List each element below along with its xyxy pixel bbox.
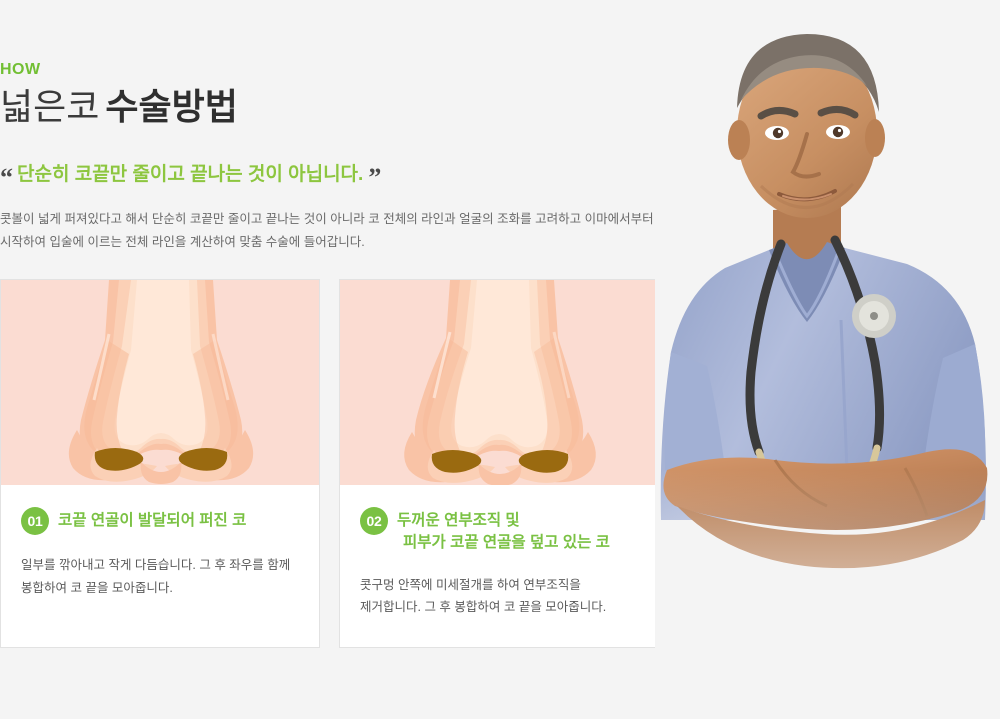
doctor-illustration-svg [655, 0, 1000, 680]
card-number-badge: 02 [360, 507, 388, 535]
header: HOW 넓은코수술방법 [0, 62, 660, 127]
page-title: 넓은코수술방법 [0, 86, 660, 127]
card-number-badge: 01 [21, 507, 49, 535]
card-desc-line-2: 제거합니다. 그 후 봉합하여 코 끝을 모아줍니다. [360, 596, 638, 619]
card-desc-line-1: 일부를 깎아내고 작게 다듬습니다. 그 후 좌우를 함께 [21, 554, 299, 577]
quote-text: 단순히 코끝만 줄이고 끝나는 것이 아닙니다. [17, 163, 363, 187]
quote-open-icon: “ [0, 165, 13, 191]
lead-paragraph: 콧볼이 넓게 퍼져있다고 해서 단순히 코끝만 줄이고 끝나는 것이 아니라 코… [0, 208, 640, 254]
card-item: 02 두꺼운 연부조직 및 피부가 코끝 연골을 덮고 있는 코 콧구멍 안쪽에… [339, 279, 659, 648]
card-body: 02 두꺼운 연부조직 및 피부가 코끝 연골을 덮고 있는 코 콧구멍 안쪽에… [340, 485, 658, 619]
card-heading: 02 두꺼운 연부조직 및 피부가 코끝 연골을 덮고 있는 코 [360, 507, 638, 555]
nose-illustration-1 [1, 280, 319, 485]
wide-nose-svg [1, 280, 319, 485]
card-title: 코끝 연골이 발달되어 퍼진 코 [58, 507, 246, 532]
lead-line-1: 콧볼이 넓게 퍼져있다고 해서 단순히 코끝만 줄이고 끝나는 것이 아니라 코… [0, 208, 640, 231]
lead-line-2: 시작하여 입술에 이르는 전체 라인을 계산하여 맞춤 수술에 들어갑니다. [0, 231, 640, 254]
nose-illustration-2 [340, 280, 658, 485]
card-item: 01 코끝 연골이 발달되어 퍼진 코 일부를 깎아내고 작게 다듬습니다. 그… [0, 279, 320, 648]
card-desc-line-2: 봉합하여 코 끝을 모아줍니다. [21, 577, 299, 600]
eyebrow-label: HOW [0, 62, 660, 78]
card-title: 두꺼운 연부조직 및 피부가 코끝 연골을 덮고 있는 코 [397, 507, 610, 555]
card-title-line-1: 코끝 연골이 발달되어 퍼진 코 [58, 510, 246, 532]
card-description: 일부를 깎아내고 작게 다듬습니다. 그 후 좌우를 함께 봉합하여 코 끝을 … [21, 554, 299, 599]
card-title-line-2: 피부가 코끝 연골을 덮고 있는 코 [403, 532, 610, 554]
doctor-photo [655, 0, 1000, 680]
card-title-line-1: 두꺼운 연부조직 및 [397, 510, 610, 532]
headline-quote: “ 단순히 코끝만 줄이고 끝나는 것이 아닙니다. ” [0, 163, 660, 191]
page-title-bold: 수술방법 [105, 86, 237, 127]
quote-close-icon: ” [368, 165, 381, 191]
card-body: 01 코끝 연골이 발달되어 퍼진 코 일부를 깎아내고 작게 다듬습니다. 그… [1, 485, 319, 599]
page-title-light: 넓은코 [0, 86, 99, 127]
card-description: 콧구멍 안쪽에 미세절개를 하여 연부조직을 제거합니다. 그 후 봉합하여 코… [360, 574, 638, 619]
page-root: HOW 넓은코수술방법 “ 단순히 코끝만 줄이고 끝나는 것이 아닙니다. ”… [0, 0, 1000, 719]
thick-tissue-nose-svg [340, 280, 658, 485]
card-desc-line-1: 콧구멍 안쪽에 미세절개를 하여 연부조직을 [360, 574, 638, 597]
card-heading: 01 코끝 연골이 발달되어 퍼진 코 [21, 507, 299, 535]
